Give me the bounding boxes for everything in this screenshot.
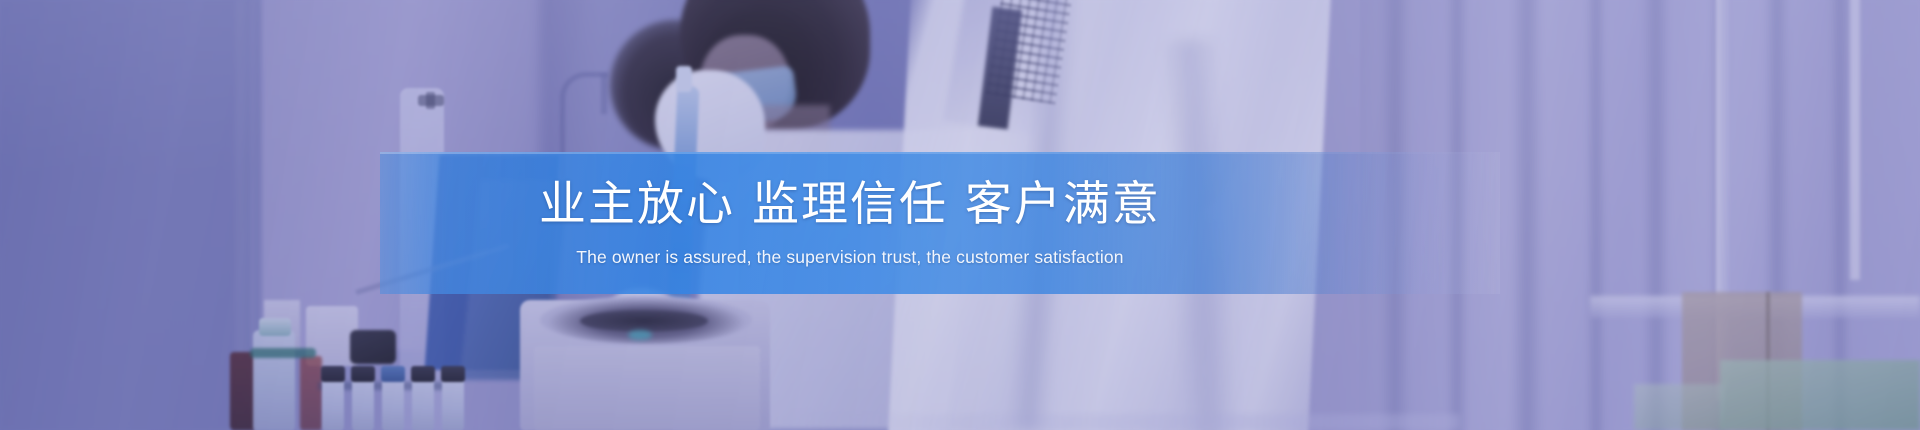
hero-banner: 业主放心 监理信任 客户满意 The owner is assured, the…: [0, 0, 1920, 430]
banner-subheadline: The owner is assured, the supervision tr…: [576, 246, 1123, 269]
caption-text-block: 业主放心 监理信任 客户满意 The owner is assured, the…: [380, 152, 1500, 294]
banner-headline: 业主放心 监理信任 客户满意: [539, 177, 1161, 232]
